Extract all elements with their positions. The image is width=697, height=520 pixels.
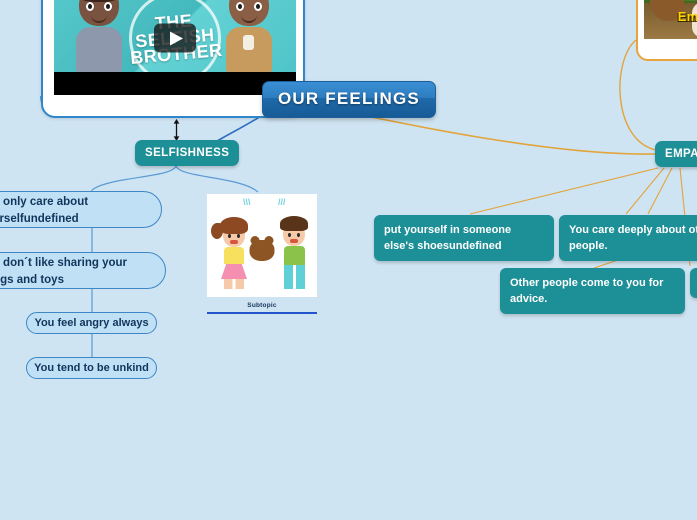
anger-mark-left: \\\ [243, 198, 252, 207]
leaf-selfishness-4[interactable]: You tend to be unkind [26, 357, 157, 379]
subtopic-image-node[interactable]: \\\ /// Subtopic [207, 194, 317, 314]
central-topic[interactable]: OUR FEELINGS [262, 81, 436, 118]
illustration-boy [283, 223, 305, 289]
picture-label: Empa [638, 9, 697, 24]
leaf-empathy-4[interactable]: You trust other people. [690, 268, 697, 298]
mindmap-canvas[interactable]: PLAY [0, 0, 697, 520]
subtopic-caption: Subtopic [207, 302, 317, 309]
topic-empathy[interactable]: EMPATHY [655, 141, 697, 167]
topic-selfishness[interactable]: SELFISHNESS [135, 140, 239, 166]
subtopic-illustration: \\\ /// [207, 194, 317, 297]
leaf-empathy-1[interactable]: put yourself in someone else's shoesunde… [374, 215, 554, 261]
video-control-bar[interactable] [54, 72, 296, 95]
leaf-empathy-2[interactable]: You care deeply about other people. [559, 215, 697, 261]
leaf-selfishness-3[interactable]: You feel angry always [26, 312, 157, 334]
leaf-selfishness-2[interactable]: You don´t like sharing your things and t… [0, 252, 166, 289]
play-icon[interactable] [154, 23, 196, 52]
leaf-selfishness-1[interactable]: You only care about yourselfundefined [0, 191, 162, 228]
illustration-teddy-bear [250, 240, 275, 261]
anger-mark-right: /// [278, 198, 287, 207]
leaf-empathy-3[interactable]: Other people come to you for advice. [500, 268, 685, 314]
illustration-girl [221, 224, 247, 289]
picture-card[interactable]: Empa [636, 0, 697, 61]
subtopic-underline [207, 312, 317, 314]
resize-arrow-icon[interactable] [172, 119, 181, 141]
